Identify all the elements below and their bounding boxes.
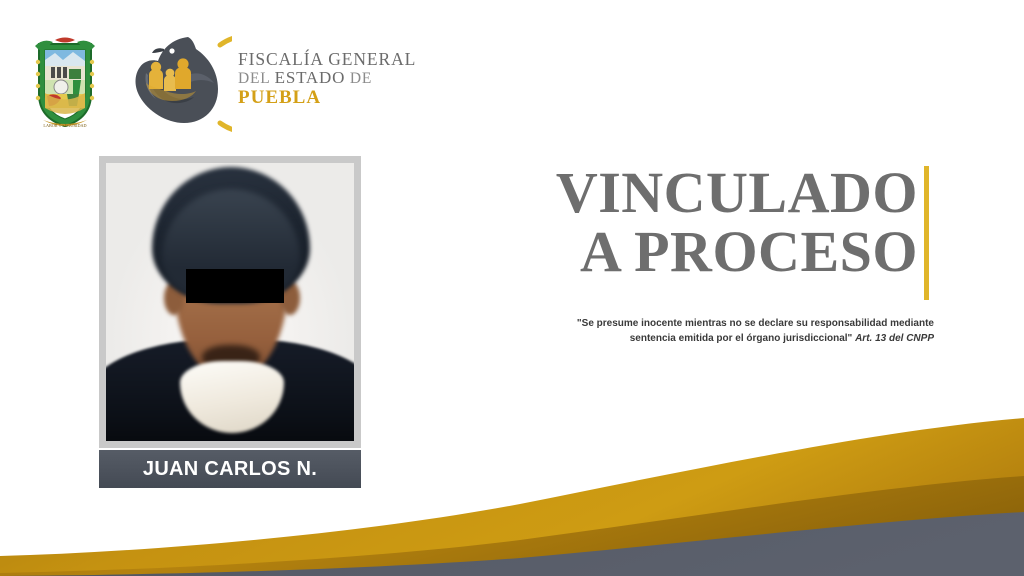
subject-name-banner: JUAN CARLOS N.	[99, 450, 361, 488]
presumption-of-innocence-disclaimer: "Se presume inocente mientras no se decl…	[534, 317, 934, 346]
svg-text:LABOR Y SEGURIDAD: LABOR Y SEGURIDAD	[43, 123, 86, 128]
headline-gold-accent-bar	[924, 166, 929, 300]
subject-photo-frame	[99, 156, 361, 448]
brand-header: LABOR Y SEGURIDAD FISCALÍA GENERAL DEL	[0, 0, 1024, 150]
brand-word-estado: ESTADO	[275, 68, 346, 87]
brand-line-del-estado-de: DEL ESTADO DE	[238, 69, 458, 88]
brand-line-puebla: PUEBLA	[238, 88, 458, 109]
eye-redaction-bar	[186, 269, 284, 303]
gold-swoosh-lower	[0, 476, 1024, 576]
disclaimer-citation: Art. 13 del CNPP	[855, 333, 934, 344]
brand-wordmark: FISCALÍA GENERAL DEL ESTADO DE PUEBLA	[238, 50, 458, 108]
subject-name: JUAN CARLOS N.	[143, 458, 317, 481]
brand-word-del: DEL	[238, 70, 270, 87]
gray-swoosh	[0, 512, 1024, 576]
press-release-slide: LABOR Y SEGURIDAD FISCALÍA GENERAL DEL	[0, 0, 1024, 576]
subject-photo	[106, 163, 354, 441]
headline-line-2: A PROCESO	[470, 222, 918, 281]
headline: VINCULADO A PROCESO	[470, 163, 918, 281]
fiscalia-eagle-logo-icon	[128, 31, 232, 137]
headline-line-1: VINCULADO	[470, 163, 918, 222]
puebla-coat-of-arms-icon: LABOR Y SEGURIDAD	[33, 36, 97, 130]
brand-line-fiscalia-general: FISCALÍA GENERAL	[238, 50, 458, 69]
brand-word-de: DE	[350, 70, 372, 87]
